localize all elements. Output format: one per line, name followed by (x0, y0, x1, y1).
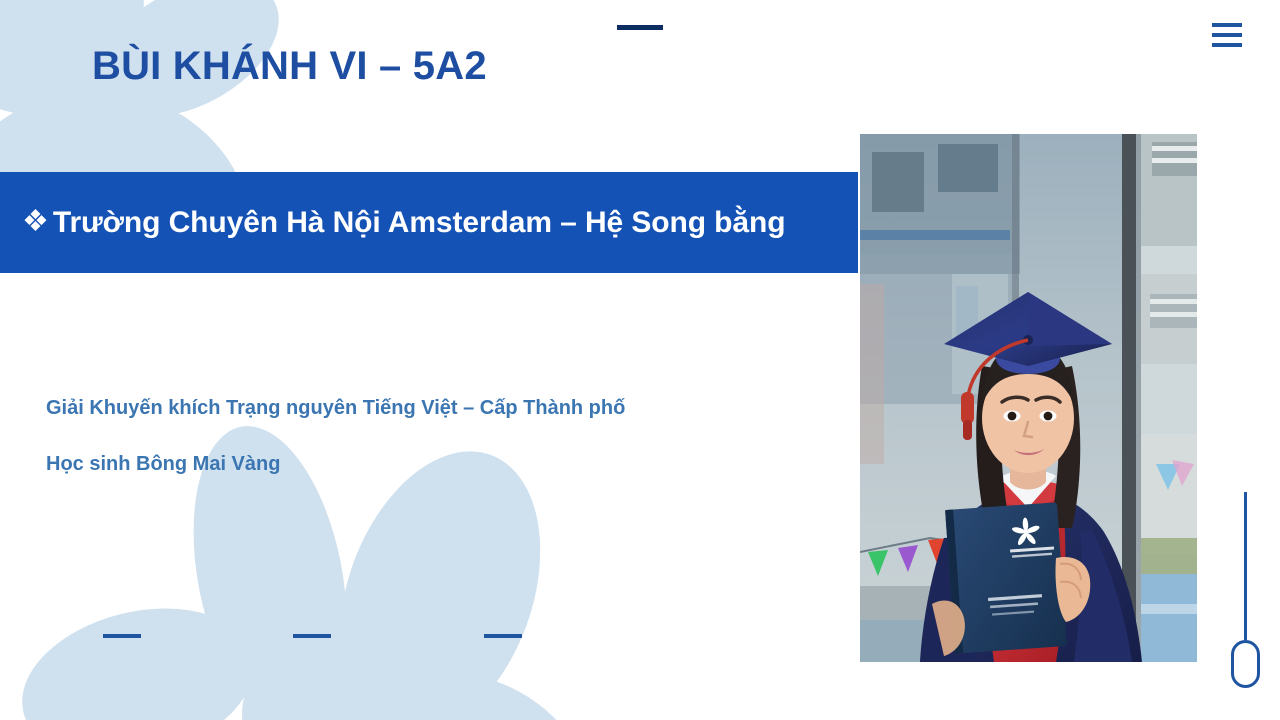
hamburger-bar-2 (1212, 33, 1242, 37)
achievement-item-2: Học sinh Bông Mai Vàng (46, 436, 826, 492)
diamond-bullet-icon: ❖ (22, 207, 49, 237)
bottom-dash-mark-3 (484, 634, 522, 638)
student-photo (860, 134, 1197, 662)
school-banner-text: Trường Chuyên Hà Nội Amsterdam – Hệ Song… (53, 206, 786, 240)
hamburger-bar-1 (1212, 23, 1242, 27)
achievements-list: Giải Khuyến khích Trạng nguyên Tiếng Việ… (46, 380, 826, 492)
school-banner: ❖ Trường Chuyên Hà Nội Amsterdam – Hệ So… (0, 172, 858, 273)
scroll-indicator-stem (1244, 492, 1247, 640)
hamburger-menu-icon[interactable] (1212, 23, 1242, 47)
page-title: BÙI KHÁNH VI – 5A2 (92, 44, 487, 89)
student-photo-illustration (860, 134, 1197, 662)
bottom-dash-mark-2 (293, 634, 331, 638)
achievement-item-1: Giải Khuyến khích Trạng nguyên Tiếng Việ… (46, 380, 826, 436)
slide-canvas: BÙI KHÁNH VI – 5A2 ❖ Trường Chuyên Hà Nộ… (0, 0, 1280, 720)
hamburger-bar-3 (1212, 43, 1242, 47)
scroll-mouse-icon[interactable] (1225, 492, 1265, 698)
top-dash-mark (617, 25, 663, 30)
scroll-indicator-mouse-body (1231, 640, 1260, 688)
bottom-dash-mark-1 (103, 634, 141, 638)
